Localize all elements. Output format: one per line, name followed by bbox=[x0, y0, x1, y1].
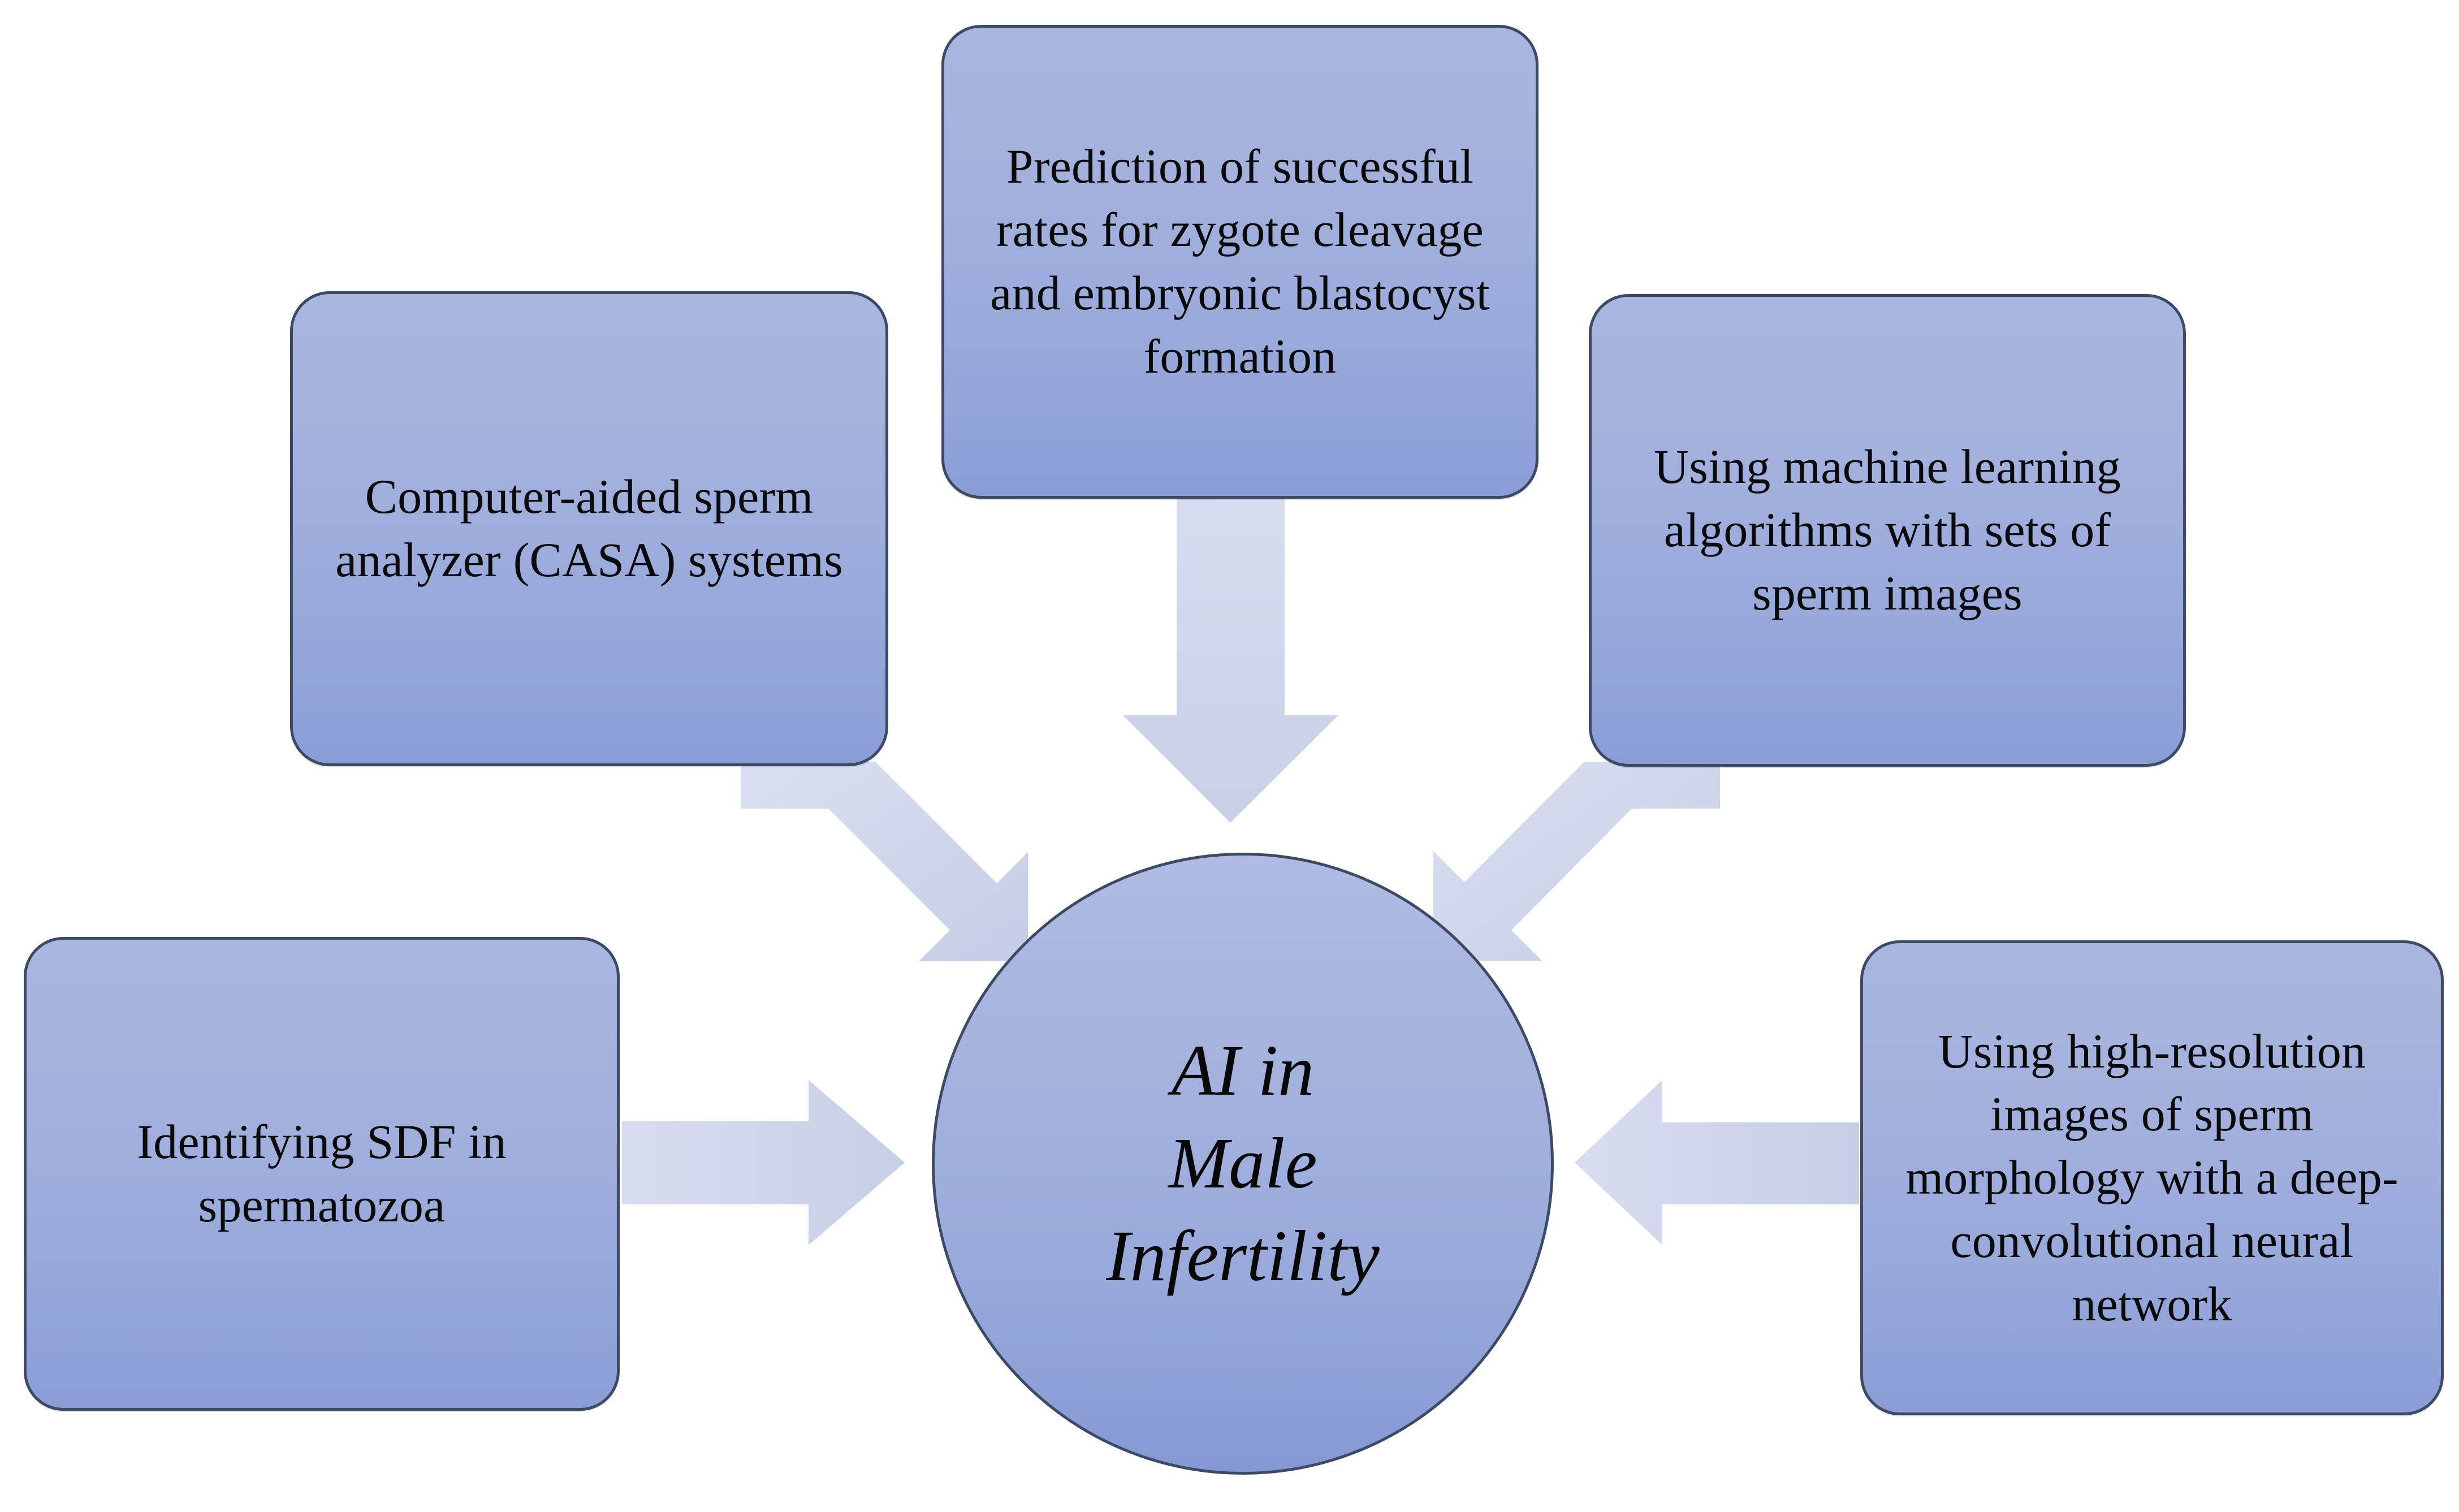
node-machine-learning-algorithms[interactable]: Using machine learning algorithms with s… bbox=[1589, 294, 2186, 767]
node-computer-aided-sperm-analyzer[interactable]: Computer-aided sperm analyzer (CASA) sys… bbox=[290, 291, 888, 766]
node-label: Prediction of successful rates for zygot… bbox=[965, 135, 1515, 388]
arrow-ml-to-hub bbox=[1433, 762, 1720, 961]
node-prediction-of-successful-rates[interactable]: Prediction of successful rates for zygot… bbox=[941, 25, 1539, 499]
node-label: Using machine learning algorithms with s… bbox=[1612, 435, 2163, 625]
arrow-casa-to-hub bbox=[741, 762, 1028, 961]
node-identifying-sdf-in-spermatozoa[interactable]: Identifying SDF in spermatozoa bbox=[24, 937, 620, 1411]
arrow-sdf-to-hub bbox=[622, 1080, 905, 1245]
hub-ai-in-male-infertility[interactable]: AI in Male Infertility bbox=[932, 853, 1554, 1475]
hub-label: AI in Male Infertility bbox=[1106, 1025, 1379, 1302]
node-deep-convolutional-neural-network[interactable]: Using high-resolution images of sperm mo… bbox=[1860, 940, 2444, 1415]
arrow-dcnn-to-hub bbox=[1575, 1080, 1859, 1245]
node-label: Identifying SDF in spermatozoa bbox=[47, 1111, 597, 1237]
node-label: Computer-aided sperm analyzer (CASA) sys… bbox=[313, 465, 865, 592]
diagram-canvas: Prediction of successful rates for zygot… bbox=[0, 0, 2459, 1512]
node-label: Using high-resolution images of sperm mo… bbox=[1883, 1020, 2421, 1336]
arrow-prediction-to-hub bbox=[1123, 499, 1338, 823]
